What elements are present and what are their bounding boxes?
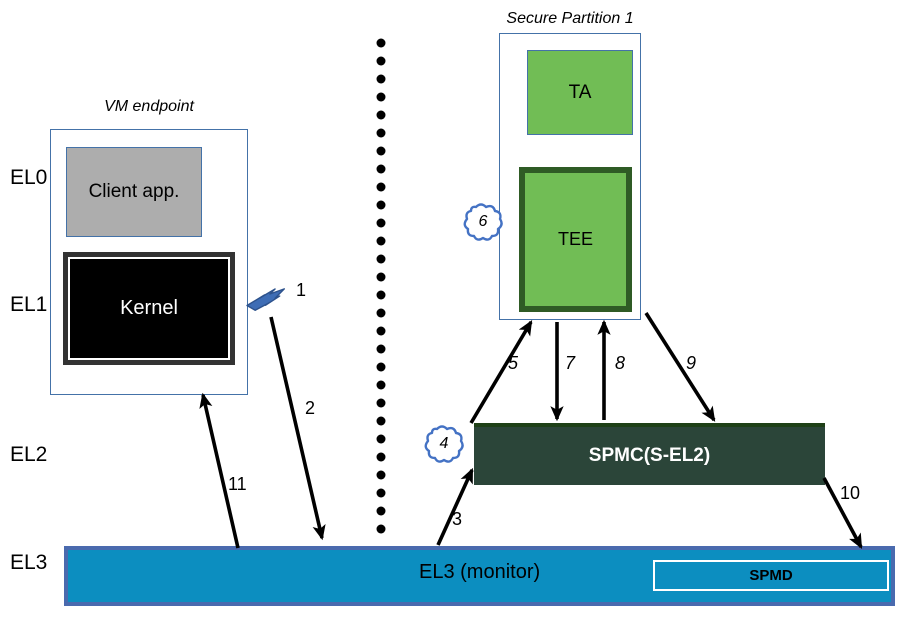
secure-partition-title: Secure Partition 1	[486, 10, 654, 28]
arrow-5-label: 5	[508, 353, 518, 374]
spmc-bar: SPMC(S-EL2)	[474, 423, 825, 485]
cloud-4-label: 4	[425, 425, 463, 463]
client-app-label: Client app.	[89, 181, 180, 203]
arrow-9-line	[646, 313, 714, 420]
arrow-10-label: 10	[840, 483, 860, 504]
arrow-2-label: 2	[305, 398, 315, 419]
arrow-3-line	[438, 470, 472, 545]
diagram-canvas: EL0 EL1 EL2 EL3 VM endpoint Client app. …	[0, 0, 899, 625]
lightning-bolt-icon	[246, 282, 284, 315]
ta-block: TA	[527, 50, 633, 135]
cloud-4-callout: 4	[425, 425, 463, 463]
cloud-6-label: 6	[464, 203, 502, 241]
vm-endpoint-title: VM endpoint	[50, 98, 248, 116]
arrow-2-line	[271, 317, 322, 538]
kernel-inner-frame: Kernel	[68, 257, 230, 360]
spmd-label: SPMD	[749, 567, 792, 584]
arrow-9-label: 9	[686, 353, 696, 374]
level-label-el3: EL3	[10, 551, 47, 575]
arrow-1-label: 1	[296, 280, 306, 301]
arrow-7-label: 7	[565, 353, 575, 374]
spmc-label: SPMC(S-EL2)	[589, 445, 710, 467]
ta-label: TA	[569, 82, 592, 104]
tee-label: TEE	[558, 229, 593, 250]
world-divider-dots	[377, 39, 386, 534]
arrow-5-line	[471, 322, 531, 423]
el3-monitor-label: EL3 (monitor)	[419, 561, 540, 584]
spmd-block: SPMD	[653, 560, 889, 591]
kernel-block: Kernel	[63, 252, 235, 365]
level-label-el2: EL2	[10, 443, 47, 467]
client-app-block: Client app.	[66, 147, 202, 237]
cloud-6-callout: 6	[464, 203, 502, 241]
arrow-3-label: 3	[452, 509, 462, 530]
arrow-11-label: 11	[228, 474, 247, 495]
arrow-8-label: 8	[615, 353, 625, 374]
level-label-el1: EL1	[10, 293, 47, 317]
kernel-label: Kernel	[120, 297, 178, 320]
level-label-el0: EL0	[10, 166, 47, 190]
tee-block: TEE	[519, 167, 632, 312]
arrow-11-line	[203, 395, 238, 548]
